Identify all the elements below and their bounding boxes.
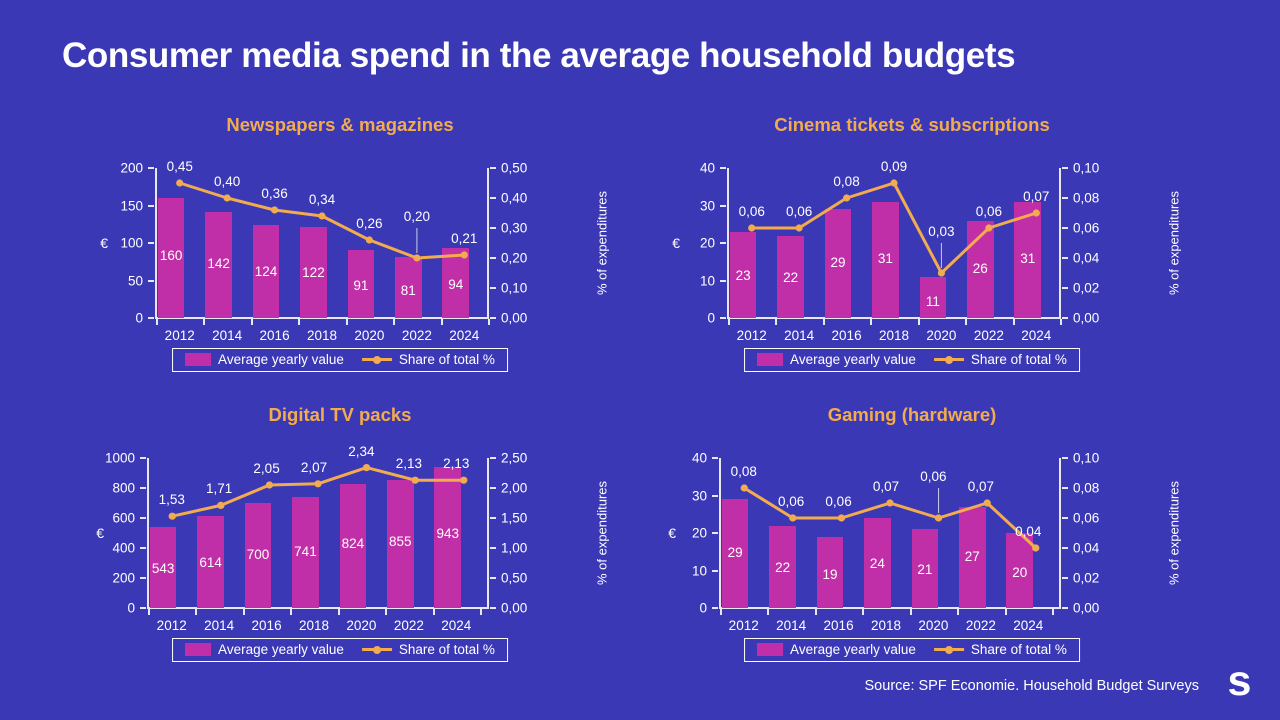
- y2-axis-tick: [490, 487, 496, 489]
- line-marker: [1032, 544, 1039, 551]
- x-axis-tick: [918, 319, 920, 325]
- slide-root: Consumer media spend in the average hous…: [0, 0, 1280, 720]
- legend-item-line[interactable]: Share of total %: [934, 642, 1067, 657]
- x-axis-tick: [823, 319, 825, 325]
- line-marker: [366, 236, 373, 243]
- y-axis-tick: [140, 517, 146, 519]
- line-point-label: 0,06: [976, 204, 1002, 219]
- y2-axis-tick-label: 0,10: [1073, 161, 1099, 176]
- bar: 31: [1014, 202, 1041, 318]
- bar-value-label: 20: [1006, 565, 1033, 580]
- y-axis-tick-label: 20: [692, 526, 707, 541]
- y-axis-tick-label: 10: [692, 563, 707, 578]
- x-axis-tick-label: 2016: [252, 618, 282, 633]
- y2-axis-tick-label: 0,04: [1073, 251, 1099, 266]
- source-note: Source: SPF Economie. Household Budget S…: [865, 678, 1199, 694]
- y-axis-tick: [140, 457, 146, 459]
- y2-axis-title: % of expenditures: [595, 481, 610, 585]
- y2-axis-tick-label: 0,00: [501, 311, 527, 326]
- chart-title: Newspapers & magazines: [60, 114, 620, 136]
- line-point-label: 0,26: [356, 216, 382, 231]
- x-axis-tick-label: 2020: [926, 328, 956, 343]
- line-marker: [890, 179, 897, 186]
- axis-left: [147, 458, 149, 608]
- bar: 122: [300, 227, 327, 319]
- line-point-label: 0,06: [739, 204, 765, 219]
- legend-bar-swatch: [185, 643, 211, 656]
- x-axis-tick: [148, 609, 150, 615]
- line-point-label: 0,40: [214, 174, 240, 189]
- bar-value-label: 31: [872, 251, 899, 266]
- x-axis-tick-label: 2020: [918, 618, 948, 633]
- y-axis-unit-label: €: [100, 235, 108, 251]
- legend-item-bar[interactable]: Average yearly value: [185, 352, 344, 367]
- bar: 11: [920, 277, 947, 318]
- legend-line-label: Share of total %: [971, 352, 1067, 367]
- legend-line-label: Share of total %: [399, 642, 495, 657]
- x-axis-tick: [1005, 609, 1007, 615]
- x-axis-tick: [862, 609, 864, 615]
- bar-value-label: 19: [817, 567, 844, 582]
- y-axis-tick: [140, 487, 146, 489]
- legend-line-label: Share of total %: [971, 642, 1067, 657]
- chart-title: Digital TV packs: [60, 404, 620, 426]
- x-axis-tick: [910, 609, 912, 615]
- x-axis-tick-label: 2018: [871, 618, 901, 633]
- page-title: Consumer media spend in the average hous…: [62, 36, 1015, 76]
- chart-legend: Average yearly valueShare of total %: [744, 348, 1080, 372]
- legend-line-label: Share of total %: [399, 352, 495, 367]
- y-axis-tick: [712, 570, 718, 572]
- y-axis-tick-label: 30: [700, 198, 715, 213]
- x-axis-tick: [338, 609, 340, 615]
- y2-axis-tick-label: 0,40: [501, 191, 527, 206]
- y2-axis-tick-label: 2,00: [501, 481, 527, 496]
- bar: 24: [864, 518, 891, 608]
- x-axis-tick-label: 2016: [824, 618, 854, 633]
- bar: 741: [292, 497, 319, 608]
- x-axis-tick-label: 2014: [776, 618, 806, 633]
- line-marker: [217, 502, 224, 509]
- bar-value-label: 91: [348, 278, 375, 293]
- bar-value-label: 22: [777, 270, 804, 285]
- legend-item-bar[interactable]: Average yearly value: [185, 642, 344, 657]
- axis-right: [1059, 458, 1061, 608]
- bar: 20: [1006, 533, 1033, 608]
- bar: 23: [730, 232, 757, 318]
- x-axis-tick-label: 2022: [402, 328, 432, 343]
- legend-bar-label: Average yearly value: [218, 352, 344, 367]
- line-point-label: 0,07: [873, 479, 899, 494]
- y2-axis-tick-label: 0,50: [501, 161, 527, 176]
- bar: 700: [245, 503, 272, 608]
- bar-value-label: 29: [825, 255, 852, 270]
- line-point-label: 1,71: [206, 481, 232, 496]
- x-axis-tick: [290, 609, 292, 615]
- x-axis-tick-label: 2018: [299, 618, 329, 633]
- bar-value-label: 29: [722, 545, 749, 560]
- line-point-label: 0,06: [825, 494, 851, 509]
- y-axis-tick-label: 200: [112, 571, 135, 586]
- bar: 91: [348, 250, 375, 318]
- legend-line-marker-icon: [934, 353, 964, 366]
- x-axis-tick: [203, 319, 205, 325]
- x-axis-tick: [195, 609, 197, 615]
- x-axis-tick-label: 2024: [449, 328, 479, 343]
- line-point-label: 1,53: [159, 492, 185, 507]
- line-marker: [748, 224, 755, 231]
- y2-axis-tick-label: 0,06: [1073, 511, 1099, 526]
- bar: 124: [253, 225, 280, 318]
- y-axis-tick: [148, 280, 154, 282]
- line-point-label: 2,13: [443, 456, 469, 471]
- bar: 27: [959, 507, 986, 608]
- chart-title: Gaming (hardware): [632, 404, 1192, 426]
- y2-axis-title: % of expenditures: [1167, 191, 1182, 295]
- chart-title: Cinema tickets & subscriptions: [632, 114, 1192, 136]
- x-axis-tick-label: 2018: [307, 328, 337, 343]
- line-marker: [938, 269, 945, 276]
- y-axis-tick-label: 0: [699, 601, 707, 616]
- line-point-label: 2,13: [396, 456, 422, 471]
- legend-bar-swatch: [757, 643, 783, 656]
- bar-value-label: 21: [912, 562, 939, 577]
- y-axis-tick: [148, 167, 154, 169]
- y2-axis-tick-label: 2,50: [501, 451, 527, 466]
- x-axis-tick-label: 2022: [394, 618, 424, 633]
- legend-bar-label: Average yearly value: [218, 642, 344, 657]
- bar-value-label: 741: [292, 544, 319, 559]
- y-axis-tick: [712, 532, 718, 534]
- x-axis-tick: [385, 609, 387, 615]
- legend-item-bar[interactable]: Average yearly value: [757, 642, 916, 657]
- y-axis-tick-label: 0: [707, 311, 715, 326]
- y2-axis-tick: [1062, 227, 1068, 229]
- y-axis-tick: [140, 607, 146, 609]
- brand-logo: s: [1216, 660, 1262, 702]
- x-axis-tick: [957, 609, 959, 615]
- line-point-label: 0,06: [778, 494, 804, 509]
- bar-value-label: 124: [253, 264, 280, 279]
- line-point-label: 0,34: [309, 192, 335, 207]
- x-axis-tick-label: 2024: [1021, 328, 1051, 343]
- y2-axis-tick-label: 0,10: [501, 281, 527, 296]
- x-axis-tick-label: 2012: [737, 328, 767, 343]
- y-axis-tick-label: 0: [135, 311, 143, 326]
- y-axis-tick-label: 50: [128, 273, 143, 288]
- x-axis-tick-label: 2016: [260, 328, 290, 343]
- bar: 81: [395, 257, 422, 318]
- x-axis-tick: [251, 319, 253, 325]
- y2-axis-tick-label: 0,02: [1073, 571, 1099, 586]
- y2-axis-tick: [490, 517, 496, 519]
- bar: 29: [722, 499, 749, 608]
- y-axis-unit-label: €: [668, 525, 676, 541]
- y-axis-tick: [148, 317, 154, 319]
- y2-axis-tick: [1062, 517, 1068, 519]
- line-marker: [271, 206, 278, 213]
- line-marker: [789, 514, 796, 521]
- line-point-label: 0,03: [928, 224, 954, 239]
- axis-right: [487, 458, 489, 608]
- x-axis-tick: [346, 319, 348, 325]
- bar-value-label: 11: [920, 294, 947, 309]
- legend-line-marker-icon: [362, 353, 392, 366]
- bar-value-label: 31: [1014, 251, 1041, 266]
- y-axis-tick-label: 600: [112, 511, 135, 526]
- x-axis-tick-label: 2020: [346, 618, 376, 633]
- x-axis-tick-label: 2012: [165, 328, 195, 343]
- line-point-label: 2,05: [253, 461, 279, 476]
- x-axis-tick: [298, 319, 300, 325]
- bar-value-label: 855: [387, 534, 414, 549]
- chart-panel-digital-tv: Digital TV packs020040060080010000,000,5…: [60, 392, 620, 664]
- y2-axis-tick-label: 0,20: [501, 251, 527, 266]
- x-axis-tick: [243, 609, 245, 615]
- x-axis-tick: [870, 319, 872, 325]
- y-axis-tick: [720, 205, 726, 207]
- legend-item-line[interactable]: Share of total %: [362, 642, 495, 657]
- plot-area: 020040060080010000,000,501,001,502,002,5…: [148, 458, 488, 608]
- y-axis-tick-label: 100: [120, 236, 143, 251]
- x-axis-tick: [393, 319, 395, 325]
- y2-axis-tick-label: 1,00: [501, 541, 527, 556]
- bar: 142: [205, 212, 232, 319]
- y2-axis-tick: [490, 547, 496, 549]
- x-axis-tick: [441, 319, 443, 325]
- y-axis-tick: [140, 547, 146, 549]
- chart-legend: Average yearly valueShare of total %: [744, 638, 1080, 662]
- bar: 160: [158, 198, 185, 318]
- bar: 31: [872, 202, 899, 318]
- x-axis-tick-label: 2014: [204, 618, 234, 633]
- x-axis-tick-label: 2012: [729, 618, 759, 633]
- y-axis-tick-label: 10: [700, 273, 715, 288]
- y2-axis-tick-label: 0,04: [1073, 541, 1099, 556]
- x-axis-tick-label: 2024: [1013, 618, 1043, 633]
- bar-value-label: 122: [300, 265, 327, 280]
- y-axis-tick-label: 0: [127, 601, 135, 616]
- line-point-label: 0,21: [451, 231, 477, 246]
- x-axis-tick: [488, 319, 490, 325]
- legend-item-line[interactable]: Share of total %: [362, 352, 495, 367]
- x-axis-tick: [433, 609, 435, 615]
- line-marker: [460, 477, 467, 484]
- x-axis-tick: [720, 609, 722, 615]
- y-axis-tick: [720, 280, 726, 282]
- bar: 614: [197, 516, 224, 608]
- x-axis-tick-label: 2012: [157, 618, 187, 633]
- plot-area: 0102030400,000,020,040,060,080,10€% of e…: [720, 458, 1060, 608]
- bar: 94: [442, 248, 469, 319]
- bar: 21: [912, 529, 939, 608]
- line-marker: [796, 224, 803, 231]
- chart-panel-newspapers: Newspapers & magazines0501001502000,000,…: [60, 102, 620, 374]
- legend-item-line[interactable]: Share of total %: [934, 352, 1067, 367]
- chart-panel-cinema: Cinema tickets & subscriptions0102030400…: [632, 102, 1192, 374]
- line-marker: [838, 514, 845, 521]
- y-axis-tick: [720, 242, 726, 244]
- x-axis-tick: [965, 319, 967, 325]
- x-axis-tick-label: 2014: [212, 328, 242, 343]
- y-axis-tick-label: 30: [692, 488, 707, 503]
- x-axis-tick: [480, 609, 482, 615]
- y2-axis-tick: [1062, 607, 1068, 609]
- line-point-label: 0,07: [968, 479, 994, 494]
- axis-left: [727, 168, 729, 318]
- line-marker: [318, 212, 325, 219]
- y2-axis-tick-label: 0,30: [501, 221, 527, 236]
- line-marker: [224, 194, 231, 201]
- x-axis-tick-label: 2022: [966, 618, 996, 633]
- line-point-label: 0,20: [404, 209, 430, 224]
- x-axis-tick-label: 2014: [784, 328, 814, 343]
- y-axis-tick: [712, 607, 718, 609]
- y-axis-tick-label: 150: [120, 198, 143, 213]
- legend-line-marker-icon: [362, 643, 392, 656]
- line-point-label: 0,45: [167, 159, 193, 174]
- bar-value-label: 94: [442, 277, 469, 292]
- x-axis-tick: [775, 319, 777, 325]
- legend-line-marker-icon: [934, 643, 964, 656]
- bar-value-label: 142: [205, 256, 232, 271]
- bar-value-label: 26: [967, 261, 994, 276]
- y2-axis-tick: [490, 457, 496, 459]
- line-point-label: 2,07: [301, 460, 327, 475]
- axis-left: [155, 168, 157, 318]
- x-axis-tick: [1060, 319, 1062, 325]
- y-axis-tick-label: 1000: [105, 451, 135, 466]
- line-marker: [886, 499, 893, 506]
- y-axis-tick-label: 800: [112, 481, 135, 496]
- line-marker: [363, 464, 370, 471]
- x-axis-tick-label: 2024: [441, 618, 471, 633]
- line-point-label: 0,06: [786, 204, 812, 219]
- y2-axis-tick: [490, 577, 496, 579]
- y2-axis-tick-label: 0,50: [501, 571, 527, 586]
- y2-axis-tick: [490, 167, 496, 169]
- y2-axis-tick: [490, 197, 496, 199]
- y2-axis-tick-label: 0,02: [1073, 281, 1099, 296]
- x-axis-tick-label: 2020: [354, 328, 384, 343]
- y2-axis-tick-label: 0,06: [1073, 221, 1099, 236]
- y2-axis-tick-label: 0,08: [1073, 191, 1099, 206]
- line-marker: [984, 499, 991, 506]
- bar: 943: [434, 467, 461, 608]
- y2-axis-tick: [490, 257, 496, 259]
- line-marker: [169, 513, 176, 520]
- bar: 22: [769, 526, 796, 609]
- x-axis-tick: [1013, 319, 1015, 325]
- line-point-label: 0,08: [833, 174, 859, 189]
- y2-axis-tick: [490, 607, 496, 609]
- plot-area: 0501001502000,000,100,200,300,400,50€% o…: [156, 168, 488, 318]
- bar: 29: [825, 209, 852, 318]
- y-axis-tick-label: 400: [112, 541, 135, 556]
- line-point-label: 0,09: [881, 159, 907, 174]
- y-axis-tick-label: 20: [700, 236, 715, 251]
- bar-value-label: 824: [340, 536, 367, 551]
- x-axis-tick-label: 2022: [974, 328, 1004, 343]
- y2-axis-tick-label: 0,10: [1073, 451, 1099, 466]
- y2-axis-tick: [1062, 487, 1068, 489]
- y2-axis-tick: [1062, 197, 1068, 199]
- line-marker: [266, 481, 273, 488]
- chart-panel-gaming: Gaming (hardware)0102030400,000,020,040,…: [632, 392, 1192, 664]
- y2-axis-title: % of expenditures: [595, 191, 610, 295]
- y-axis-unit-label: €: [672, 235, 680, 251]
- y-axis-tick-label: 40: [692, 451, 707, 466]
- bar: 26: [967, 221, 994, 319]
- y2-axis-tick: [1062, 547, 1068, 549]
- y2-axis-tick-label: 0,00: [1073, 601, 1099, 616]
- bar: 824: [340, 484, 367, 608]
- y2-axis-tick: [1062, 577, 1068, 579]
- bar: 855: [387, 480, 414, 608]
- line-marker: [843, 194, 850, 201]
- y-axis-tick: [712, 495, 718, 497]
- y2-axis-tick-label: 0,08: [1073, 481, 1099, 496]
- y2-axis-tick: [490, 287, 496, 289]
- line-point-label: 0,36: [261, 186, 287, 201]
- bar-value-label: 23: [730, 268, 757, 283]
- y-axis-tick: [148, 205, 154, 207]
- x-axis-tick: [815, 609, 817, 615]
- y2-axis-tick: [1062, 257, 1068, 259]
- y-axis-tick: [720, 317, 726, 319]
- bar-value-label: 27: [959, 549, 986, 564]
- chart-legend: Average yearly valueShare of total %: [172, 348, 508, 372]
- y-axis-tick-label: 40: [700, 161, 715, 176]
- bar-value-label: 700: [245, 547, 272, 562]
- bar-value-label: 24: [864, 556, 891, 571]
- axis-left: [719, 458, 721, 608]
- y2-axis-tick-label: 0,00: [501, 601, 527, 616]
- bar-value-label: 943: [434, 526, 461, 541]
- line-marker: [314, 480, 321, 487]
- bar-value-label: 81: [395, 283, 422, 298]
- x-axis-tick: [728, 319, 730, 325]
- y2-axis-tick: [1062, 317, 1068, 319]
- y2-axis-tick-label: 1,50: [501, 511, 527, 526]
- chart-legend: Average yearly valueShare of total %: [172, 638, 508, 662]
- y-axis-tick-label: 200: [120, 161, 143, 176]
- legend-item-bar[interactable]: Average yearly value: [757, 352, 916, 367]
- legend-bar-label: Average yearly value: [790, 352, 916, 367]
- x-axis-tick: [156, 319, 158, 325]
- y-axis-tick: [720, 167, 726, 169]
- line-marker: [176, 179, 183, 186]
- line-point-label: 0,04: [1015, 524, 1041, 539]
- y-axis-tick: [712, 457, 718, 459]
- x-axis-tick-label: 2016: [832, 328, 862, 343]
- y2-axis-title: % of expenditures: [1167, 481, 1182, 585]
- axis-right: [487, 168, 489, 318]
- bar: 543: [150, 527, 177, 608]
- x-axis-tick: [767, 609, 769, 615]
- x-axis-tick: [1052, 609, 1054, 615]
- y2-axis-tick: [490, 227, 496, 229]
- line-marker: [935, 514, 942, 521]
- y2-axis-tick: [1062, 457, 1068, 459]
- line-marker: [741, 484, 748, 491]
- bar-value-label: 543: [150, 561, 177, 576]
- y2-axis-tick-label: 0,00: [1073, 311, 1099, 326]
- bar-value-label: 160: [158, 248, 185, 263]
- legend-bar-swatch: [185, 353, 211, 366]
- y-axis-unit-label: €: [96, 525, 104, 541]
- line-point-label: 0,07: [1023, 189, 1049, 204]
